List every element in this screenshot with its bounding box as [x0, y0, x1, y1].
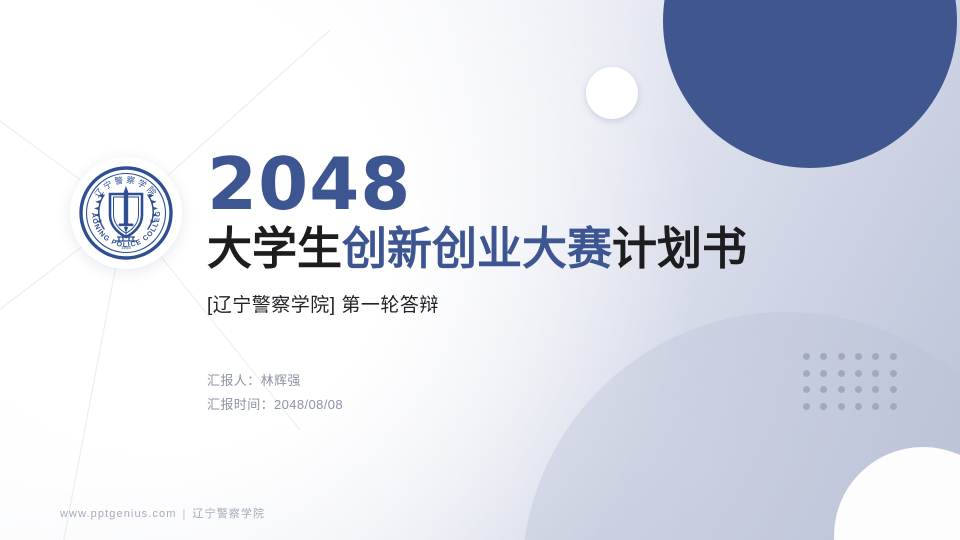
grid-dot: [890, 386, 897, 393]
grid-dot: [803, 370, 810, 377]
grid-dot: [820, 370, 827, 377]
grid-dot: [855, 353, 862, 360]
grid-dot: [872, 403, 879, 410]
grid-dot: [890, 403, 897, 410]
grid-dot: [838, 353, 845, 360]
footer-separator: |: [183, 508, 187, 520]
grid-dot: [890, 370, 897, 377]
grid-dot: [872, 370, 879, 377]
presenter-line: 汇报人：林辉强: [207, 369, 343, 393]
grid-dot: [803, 386, 810, 393]
year-heading: 2048: [207, 150, 907, 219]
dot-grid-decoration: [803, 353, 907, 419]
grid-dot: [820, 353, 827, 360]
slide-footer: www.pptgenius.com|辽宁警察学院: [60, 505, 265, 521]
grid-dot: [855, 370, 862, 377]
grid-dot: [890, 353, 897, 360]
grid-dot: [820, 403, 827, 410]
presentation-meta: 汇报人：林辉强 汇报时间：2048/08/08: [207, 369, 343, 416]
footer-org: 辽宁警察学院: [193, 508, 266, 520]
grid-dot: [872, 386, 879, 393]
grid-dot: [838, 370, 845, 377]
founded-year-text: 1948: [121, 245, 131, 250]
grid-dot: [855, 386, 862, 393]
footer-site: www.pptgenius.com: [60, 508, 177, 520]
presentation-slide: 辽宁警察学院 LIAONING POLICE COLLEGE: [0, 0, 960, 540]
title-block: 2048 大学生创新创业大赛计划书 [辽宁警察学院] 第一轮答辩: [207, 150, 907, 317]
grid-dot: [855, 403, 862, 410]
grid-dot: [803, 353, 810, 360]
liaoning-police-college-emblem-icon: 辽宁警察学院 LIAONING POLICE COLLEGE: [70, 157, 182, 269]
headline-tail: 计划书: [612, 223, 747, 274]
grid-dot: [803, 403, 810, 410]
small-white-circle: [586, 67, 638, 119]
college-logo: 辽宁警察学院 LIAONING POLICE COLLEGE: [70, 157, 182, 269]
grid-dot: [872, 353, 879, 360]
main-headline: 大学生创新创业大赛计划书: [207, 225, 907, 274]
grid-dot: [838, 403, 845, 410]
subtitle: [辽宁警察学院] 第一轮答辩: [207, 290, 907, 317]
big-blue-circle: [663, 0, 957, 168]
date-line: 汇报时间：2048/08/08: [207, 393, 343, 417]
grid-dot: [820, 386, 827, 393]
headline-lead: 大学生: [207, 223, 342, 274]
grid-dot: [838, 386, 845, 393]
headline-accent: 创新创业大赛: [342, 223, 612, 274]
